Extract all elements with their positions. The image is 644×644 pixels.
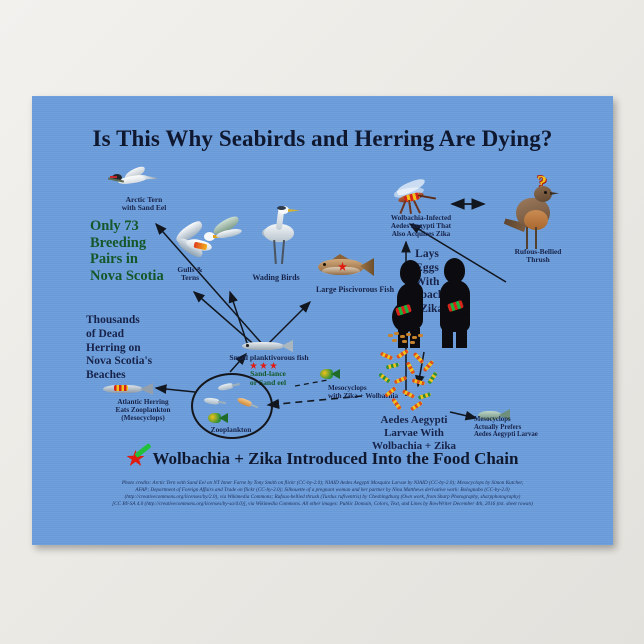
tern-secondary-image [210, 218, 250, 244]
mosquito-egg-raft [388, 332, 428, 346]
small-planktivorous-fish-image [238, 338, 294, 354]
dead-herring-l2: of Dead [86, 328, 212, 342]
wolbachia-mosquito-l1: Wolbachia-Infected [366, 214, 476, 222]
dead-herring-l4: Nova Scotia's [86, 355, 212, 369]
wolbachia-mosquito-l2: Aedes Aegypti That [366, 222, 476, 230]
aedes-larvae-l1: Aedes Aegypti [354, 414, 474, 427]
mesocyclops-prefers-l3: Aedes Aegypti Larvae [474, 431, 578, 439]
label-mesocyclops-prefers: Mesocyclops Actually Prefers Aedes Aegyp… [474, 416, 578, 439]
aedes-larvae-l2: Larvae With [354, 427, 474, 440]
dead-herring-l1: Thousands [86, 314, 212, 328]
banner-text: Wolbachia + Zika Introduced Into the Foo… [153, 449, 519, 468]
arctic-tern-image [110, 168, 156, 188]
label-arctic-tern: Arctic Tern with Sand Eel [104, 196, 184, 213]
credits-line-2: AFAP; Department of Foreign Affairs and … [68, 487, 577, 494]
mesocyclops-prefers-l2: Actually Prefers [474, 424, 578, 432]
label-wolbachia-mosquito: Wolbachia-Infected Aedes Aegypti That Al… [366, 214, 476, 238]
rufous-thrush-l2: Thrush [484, 256, 592, 264]
mesocyclops-zika-icon [320, 368, 344, 383]
mesocyclops-green-icon [208, 412, 226, 424]
wolbachia-mosquito-image [380, 180, 438, 214]
wading-bird-image [250, 206, 304, 268]
bottom-banner: Wolbachia + Zika Introduced Into the Foo… [32, 448, 613, 469]
label-atlantic-herring: Atlantic Herring Eats Zooplankton (Mesoc… [88, 398, 198, 422]
label-rufous-thrush: Rufous-Bellied Thrush [484, 248, 592, 265]
atlantic-herring-l2: Eats Zooplankton [88, 406, 198, 414]
atlantic-herring-l1: Atlantic Herring [88, 398, 198, 406]
poster: Is This Why Seabirds and Herring Are Dyi… [32, 96, 613, 545]
wolbachia-mosquito-l3: Also Acquires Zika [366, 230, 476, 238]
wolbachia-zika-band-icon [114, 385, 128, 391]
atlantic-herring-l3: (Mesocyclops) [88, 414, 198, 422]
poster-title: Is This Why Seabirds and Herring Are Dyi… [32, 126, 613, 152]
dead-herring-l3: Herring on [86, 342, 212, 356]
dead-herring-l5: Beaches [86, 369, 212, 383]
label-wading-birds: Wading Birds [228, 274, 324, 283]
mesocyclops-prefers-l1: Mesocyclops [474, 416, 578, 424]
credits-line-3: (http://creativecommons.org/licenses/by/… [68, 494, 577, 501]
aedes-larvae-cluster [376, 352, 448, 412]
label-arctic-tern-l2: with Sand Eel [104, 204, 184, 212]
credits-line-4: [CC BY-SA 4.0 (http://creativecommons.or… [68, 501, 577, 508]
photo-credits: Photo credits: Arctic Tern with Sand Eel… [68, 480, 577, 508]
label-zooplankton: Zooplankton [192, 426, 270, 434]
label-small-planktivorous-fish: Small planktivorous fish [210, 354, 328, 363]
gulls-terns-l2: Terns [164, 274, 216, 282]
wolbachia-zika-marker-icon [127, 448, 153, 468]
rufous-bellied-thrush-image: ? [502, 180, 564, 254]
label-dead-herring: Thousands of Dead Herring on Nova Scotia… [86, 314, 212, 383]
credits-line-1: Photo credits: Arctic Tern with Sand Eel… [68, 480, 577, 487]
label-gulls-terns: Gulls & Terns [164, 266, 216, 283]
